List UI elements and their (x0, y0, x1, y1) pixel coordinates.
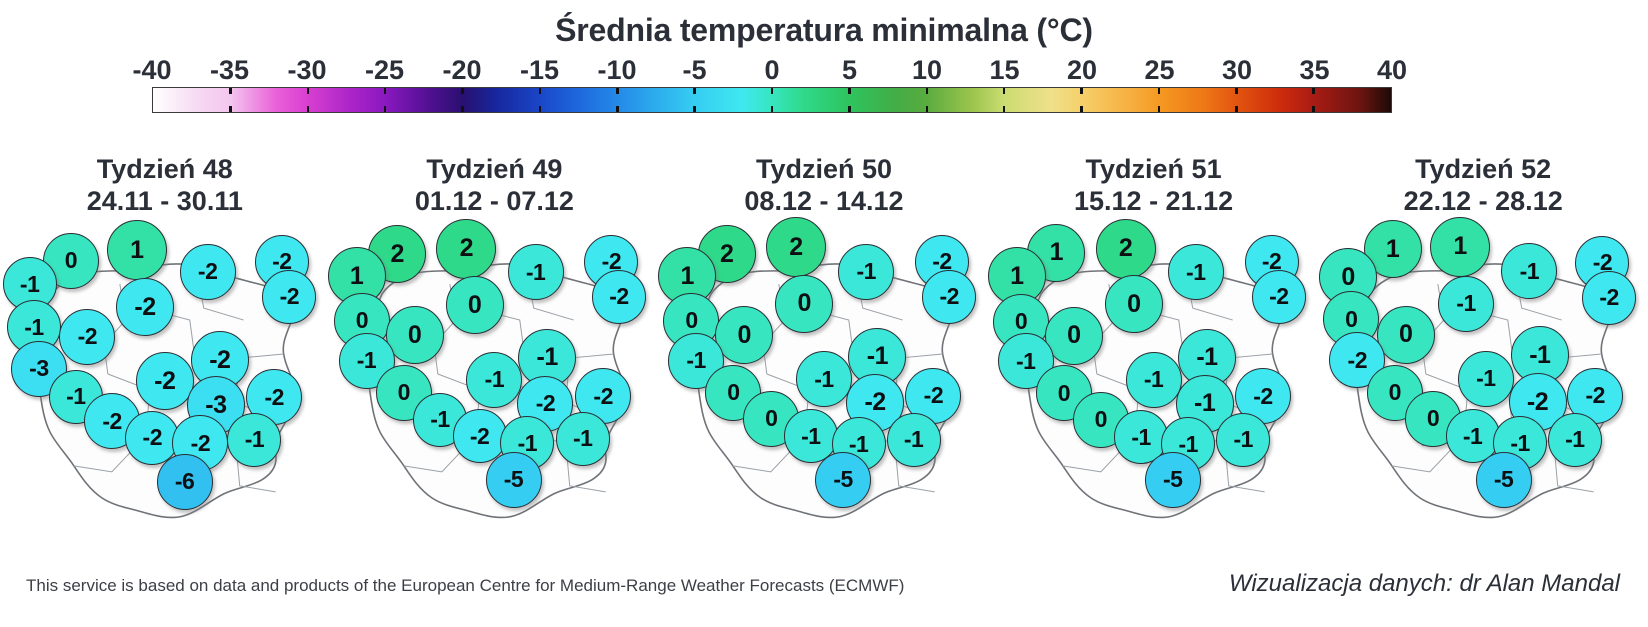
colorbar-tick-label: 40 (1377, 55, 1407, 86)
temperature-bubble[interactable]: -2 (1252, 270, 1306, 324)
temperature-bubble[interactable]: -1 (1438, 276, 1494, 332)
colorbar-tick-label: 35 (1299, 55, 1329, 86)
temperature-bubble[interactable]: -6 (157, 454, 213, 510)
poland-map: 22-1-21-2000-1-1-10-2-20-1-1-1-5 (659, 224, 989, 542)
temperature-bubble[interactable]: -1 (1126, 352, 1182, 408)
poland-map: 01-2-2-1-2-2-1-2-2-3-2-1-3-2-2-2-2-1-6 (0, 224, 330, 542)
poland-map: 11-1-20-2-100-1-2-10-2-20-1-1-1-5 (1318, 224, 1648, 542)
colorbar-tick-mark (384, 88, 387, 94)
temperature-bubble[interactable]: -1 (466, 352, 522, 408)
colorbar-tick-mark (848, 88, 851, 94)
temperature-bubble[interactable]: -5 (815, 452, 871, 508)
temperature-bubble[interactable]: 0 (1105, 275, 1163, 333)
colorbar-tick-label: 30 (1222, 55, 1252, 86)
temperature-bubble[interactable]: 0 (446, 276, 504, 334)
temperature-bubble[interactable]: -1 (1458, 351, 1514, 407)
temperature-bubble[interactable]: -2 (1582, 271, 1636, 325)
colorbar-tick-mark (1003, 106, 1006, 112)
colorbar-tick-label: -35 (210, 55, 249, 86)
colorbar-tick-mark (1235, 106, 1238, 112)
temperature-bubble[interactable]: -2 (136, 352, 194, 410)
colorbar-tick-label: 5 (842, 55, 857, 86)
temperature-bubble[interactable]: -1 (887, 413, 941, 467)
temperature-bubble[interactable]: -1 (1168, 244, 1224, 300)
colorbar-tick-label: 25 (1144, 55, 1174, 86)
colorbar-tick-mark (1080, 88, 1083, 94)
temperature-bubble[interactable]: -5 (1476, 452, 1532, 508)
temperature-bubble[interactable]: -2 (592, 270, 646, 324)
colorbar-tick-mark (1080, 106, 1083, 112)
temperature-bubble[interactable]: 0 (715, 306, 773, 364)
temperature-bubble[interactable]: 1 (107, 220, 167, 280)
temperature-bubble[interactable]: -2 (180, 244, 236, 300)
colorbar-tick-mark (616, 106, 619, 112)
colorbar-tick-mark (693, 88, 696, 94)
colorbar-tick-mark (229, 88, 232, 94)
colorbar-tick-mark (461, 88, 464, 94)
colorbar-tick-mark (384, 106, 387, 112)
colorbar-bar (152, 87, 1392, 113)
temperature-bubble[interactable]: 0 (1377, 306, 1435, 364)
week-label: Tydzień 50 (659, 154, 989, 186)
colorbar-tick-mark (539, 106, 542, 112)
colorbar: -40-35-30-25-20-15-10-50510152025303540 (152, 55, 1392, 113)
colorbar-tick-mark (1158, 88, 1161, 94)
page-title: Średnia temperatura minimalna (°C) (0, 12, 1648, 49)
colorbar-tick-mark (848, 106, 851, 112)
colorbar-tick-mark (1235, 88, 1238, 94)
week-panels: Tydzień 4824.11 - 30.11 01-2-2-1-2-2-1-2… (0, 152, 1648, 542)
temperature-bubble[interactable]: -5 (1145, 452, 1201, 508)
colorbar-tick-mark (616, 88, 619, 94)
colorbar-tick-mark (1003, 88, 1006, 94)
date-range: 01.12 - 07.12 (330, 186, 660, 218)
date-range: 08.12 - 14.12 (659, 186, 989, 218)
visualization-credit: Wizualizacja danych: dr Alan Mandal (1229, 570, 1620, 598)
temperature-bubble[interactable]: 0 (775, 275, 833, 333)
colorbar-tick-mark (771, 88, 774, 94)
temperature-bubble[interactable]: -2 (59, 309, 115, 365)
temperature-bubble[interactable]: -1 (1216, 413, 1270, 467)
colorbar-tick-label: -40 (132, 55, 171, 86)
week-label: Tydzień 52 (1318, 154, 1648, 186)
week-label: Tydzień 49 (330, 154, 660, 186)
colorbar-tick-mark (1158, 106, 1161, 112)
temperature-bubble[interactable]: -1 (1548, 413, 1602, 467)
colorbar-tick-label: -25 (365, 55, 404, 86)
week-panel: Tydzień 4824.11 - 30.11 01-2-2-1-2-2-1-2… (0, 152, 330, 542)
week-label: Tydzień 48 (0, 154, 330, 186)
temperature-bubble[interactable]: -1 (508, 244, 564, 300)
colorbar-tick-label: -15 (520, 55, 559, 86)
temperature-bubble[interactable]: -5 (486, 452, 542, 508)
date-range: 15.12 - 21.12 (989, 186, 1319, 218)
colorbar-tick-label: 0 (764, 55, 779, 86)
poland-map: 12-1-21-2000-1-1-10-1-20-1-1-1-5 (989, 224, 1319, 542)
colorbar-tick-mark (229, 106, 232, 112)
temperature-bubble[interactable]: 0 (386, 306, 444, 364)
colorbar-tick-mark (926, 88, 929, 94)
colorbar-tick-mark (1312, 88, 1315, 94)
colorbar-tick-mark (1312, 106, 1315, 112)
colorbar-tick-mark (771, 106, 774, 112)
temperature-bubble[interactable]: 2 (436, 219, 496, 279)
colorbar-tick-label: -30 (287, 55, 326, 86)
panel-header: Tydzień 5222.12 - 28.12 (1318, 152, 1648, 218)
date-range: 22.12 - 28.12 (1318, 186, 1648, 218)
temperature-bubble[interactable]: 0 (1045, 307, 1103, 365)
week-panel: Tydzień 5008.12 - 14.12 22-1-21-2000-1-1… (659, 152, 989, 542)
temperature-bubble[interactable]: -1 (1501, 243, 1557, 299)
colorbar-tick-label: 20 (1067, 55, 1097, 86)
ecmwf-attribution: This service is based on data and produc… (26, 576, 904, 596)
panel-header: Tydzień 5115.12 - 21.12 (989, 152, 1319, 218)
temperature-bubble[interactable]: -2 (116, 278, 174, 336)
colorbar-tick-mark (461, 106, 464, 112)
temperature-bubble[interactable]: -2 (262, 270, 316, 324)
temperature-bubble[interactable]: 2 (766, 217, 826, 277)
colorbar-tick-mark (307, 106, 310, 112)
temperature-bubble[interactable]: 2 (1096, 219, 1156, 279)
panel-header: Tydzień 4824.11 - 30.11 (0, 152, 330, 218)
temperature-bubble[interactable]: -1 (838, 244, 894, 300)
colorbar-tick-mark (693, 106, 696, 112)
temperature-bubble[interactable]: -2 (922, 270, 976, 324)
panel-header: Tydzień 5008.12 - 14.12 (659, 152, 989, 218)
temperature-bubble[interactable]: 1 (1430, 217, 1490, 277)
week-label: Tydzień 51 (989, 154, 1319, 186)
colorbar-tick-label: -10 (597, 55, 636, 86)
week-panel: Tydzień 5222.12 - 28.12 11-1-20-2-100-1-… (1318, 152, 1648, 542)
week-panel: Tydzień 5115.12 - 21.12 12-1-21-2000-1-1… (989, 152, 1319, 542)
week-panel: Tydzień 4901.12 - 07.12 22-1-21-2000-1-1… (330, 152, 660, 542)
temperature-bubble[interactable]: -1 (796, 351, 852, 407)
panel-header: Tydzień 4901.12 - 07.12 (330, 152, 660, 218)
colorbar-tick-label: 10 (912, 55, 942, 86)
colorbar-tick-label: 15 (989, 55, 1019, 86)
temperature-bubble[interactable]: -1 (227, 413, 281, 467)
temperature-bubble[interactable]: -1 (556, 412, 610, 466)
date-range: 24.11 - 30.11 (0, 186, 330, 218)
colorbar-tick-mark (926, 106, 929, 112)
colorbar-tick-label: -5 (682, 55, 706, 86)
colorbar-tick-mark (539, 88, 542, 94)
colorbar-tick-labels: -40-35-30-25-20-15-10-50510152025303540 (152, 55, 1392, 87)
colorbar-tick-label: -20 (442, 55, 481, 86)
colorbar-tick-mark (307, 88, 310, 94)
poland-map: 22-1-21-2000-1-1-10-2-2-1-2-1-1-5 (330, 224, 660, 542)
